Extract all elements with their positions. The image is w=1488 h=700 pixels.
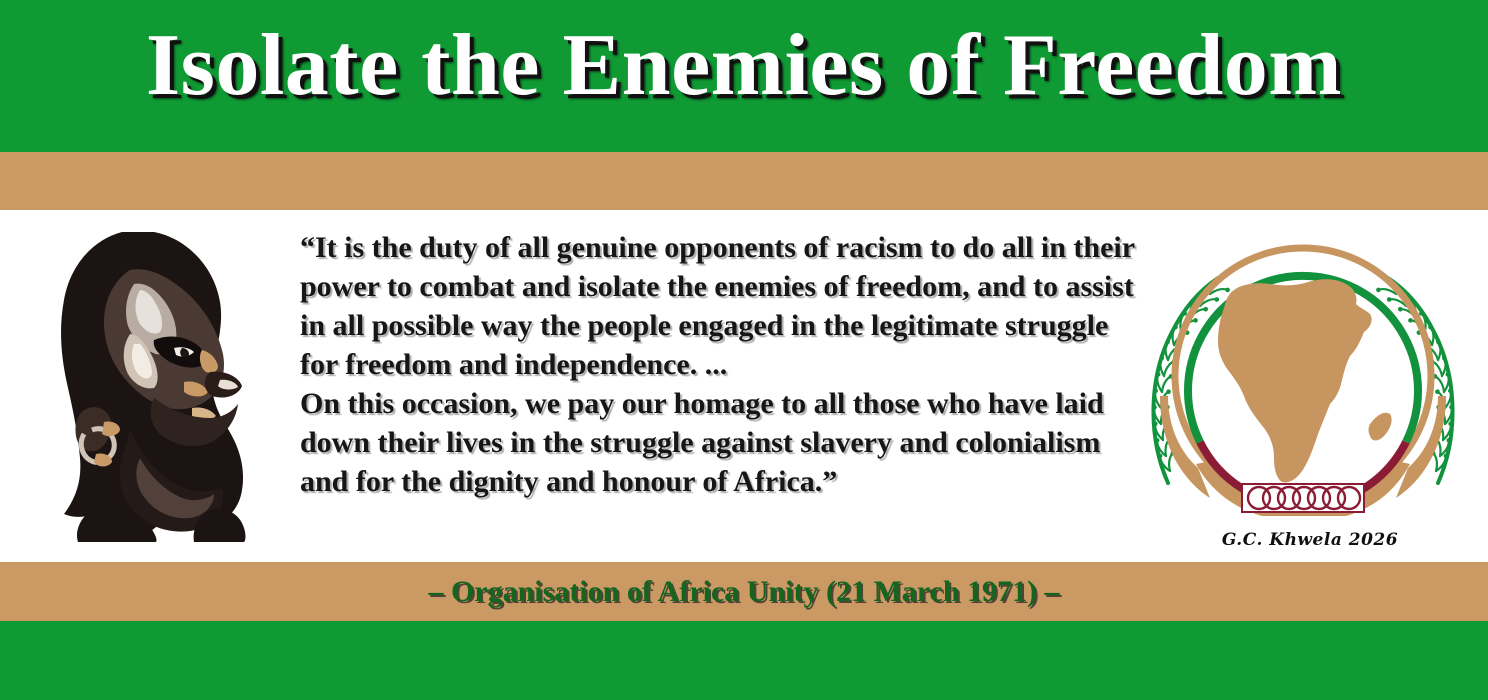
- african-union-emblem: [1138, 228, 1468, 533]
- poster-title: Isolate the Enemies of Freedom: [0, 14, 1488, 118]
- quote-block: “It is the duty of all genuine opponents…: [300, 228, 1150, 501]
- bottom-green-band: [0, 621, 1488, 700]
- africa-map: [1218, 279, 1392, 482]
- quote-attribution: – Organisation of Africa Unity (21 March…: [0, 572, 1488, 612]
- portrait-artwork: [61, 232, 245, 542]
- quote-paragraph-1: “It is the duty of all genuine opponents…: [300, 228, 1150, 384]
- poster: Isolate the Enemies of Freedom: [0, 0, 1488, 700]
- quote-paragraph-2: On this occasion, we pay our homage to a…: [300, 384, 1150, 501]
- top-tan-band: [0, 152, 1488, 210]
- interlocking-rings-band: [1242, 484, 1364, 512]
- portrait-illustration: [34, 222, 290, 542]
- artist-signature: G.C. Khwela 2026: [1180, 530, 1440, 550]
